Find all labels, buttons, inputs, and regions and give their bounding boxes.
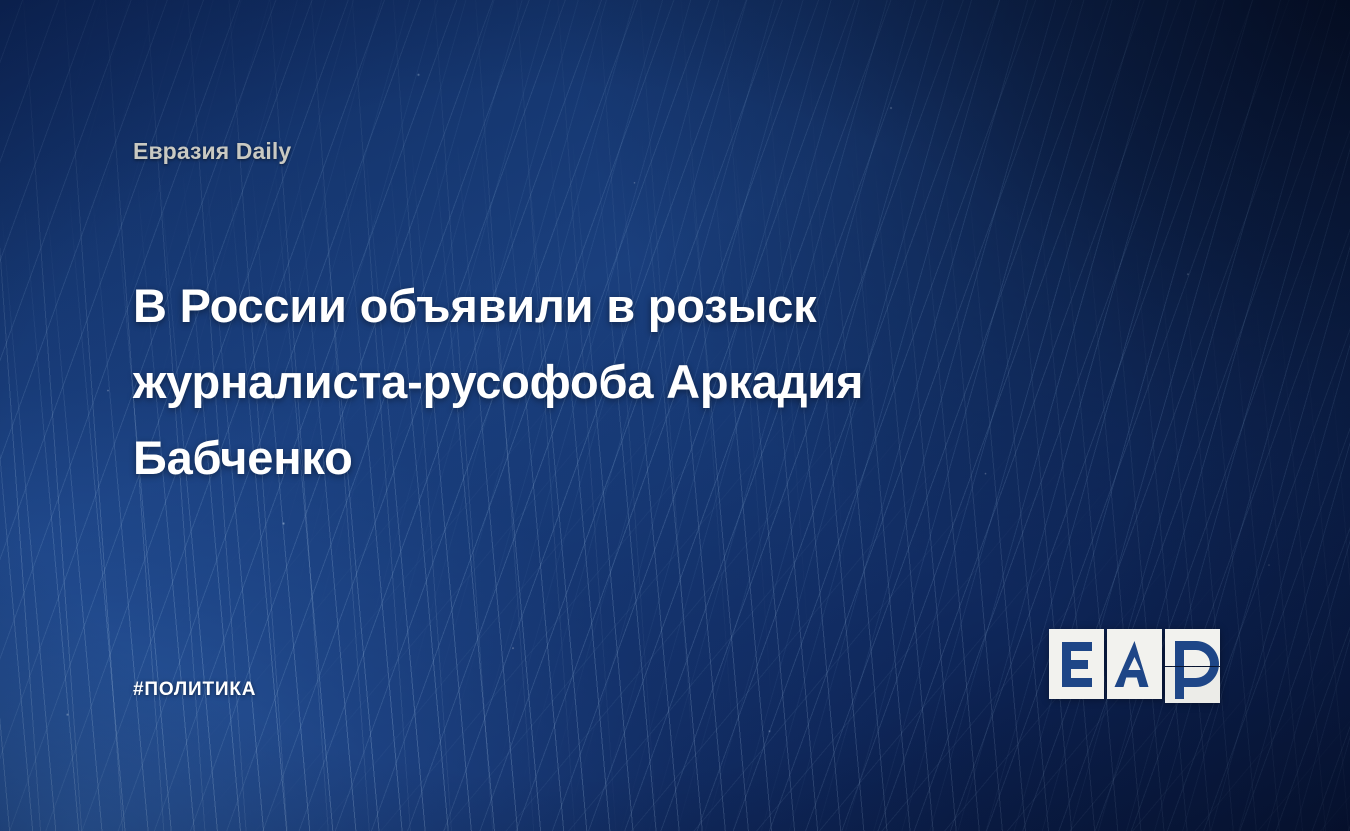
eadaily-logo: [1049, 629, 1229, 703]
social-share-card: Евразия Daily В России объявили в розыск…: [0, 0, 1350, 831]
category-tag: #ПОЛИТИКА: [133, 679, 256, 701]
logo-letter-e: [1062, 642, 1092, 687]
publication-name: Евразия Daily: [133, 138, 291, 165]
headline: В России объявили в розыск журналиста-ру…: [133, 268, 1013, 496]
